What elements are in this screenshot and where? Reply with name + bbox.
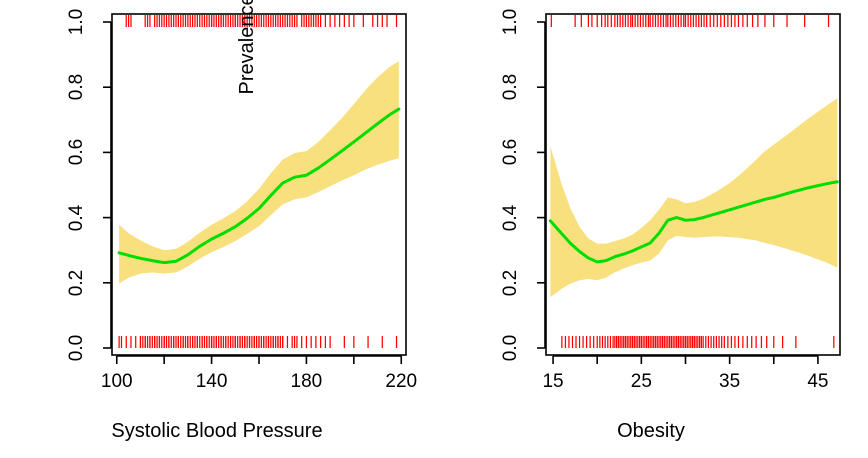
rug-bottom-chd-negative (119, 336, 396, 348)
x-axis-title-right: Obesity (434, 420, 868, 443)
x-axis (553, 356, 818, 364)
y-tick-label: 0.6 (500, 128, 522, 176)
y-tick-label: 0.2 (500, 259, 522, 307)
y-tick-label: 1.0 (66, 0, 88, 46)
rug-top-chd-positive (551, 15, 828, 27)
y-tick-label: 0.8 (500, 63, 522, 111)
x-tick-label: 140 (177, 371, 247, 393)
x-tick-label: 15 (518, 371, 588, 393)
y-tick-label: 0.4 (66, 194, 88, 242)
confidence-band (119, 61, 399, 283)
x-tick-label: 25 (606, 371, 676, 393)
y-tick-label: 1.0 (500, 0, 522, 46)
chart-panel-obesity: Prevalence CHD Obesity 0.00.20.40.60.81.… (434, 0, 868, 458)
rug-bottom-chd-negative (562, 336, 834, 348)
x-tick-label: 45 (783, 371, 853, 393)
y-tick-label: 0.8 (66, 63, 88, 111)
y-tick-label: 0.4 (500, 194, 522, 242)
y-axis (537, 22, 545, 348)
plot-frame (112, 14, 406, 355)
y-tick-label: 0.0 (66, 324, 88, 372)
y-tick-label: 0.2 (66, 259, 88, 307)
y-tick-label: 0.0 (500, 324, 522, 372)
x-tick-label: 180 (271, 371, 341, 393)
y-axis (103, 22, 111, 348)
chart-panel-systolic-blood-pressure: Prevalence CHD Systolic Blood Pressure 0… (0, 0, 434, 458)
x-axis-title-left: Systolic Blood Pressure (0, 420, 434, 443)
figure-canvas: Prevalence CHD Systolic Blood Pressure 0… (0, 0, 868, 458)
x-tick-label: 220 (366, 371, 436, 393)
x-tick-label: 100 (82, 371, 152, 393)
x-axis (117, 356, 402, 364)
rug-top-chd-positive (126, 15, 396, 27)
confidence-band (550, 98, 837, 297)
y-tick-label: 0.6 (66, 128, 88, 176)
x-tick-label: 35 (695, 371, 765, 393)
